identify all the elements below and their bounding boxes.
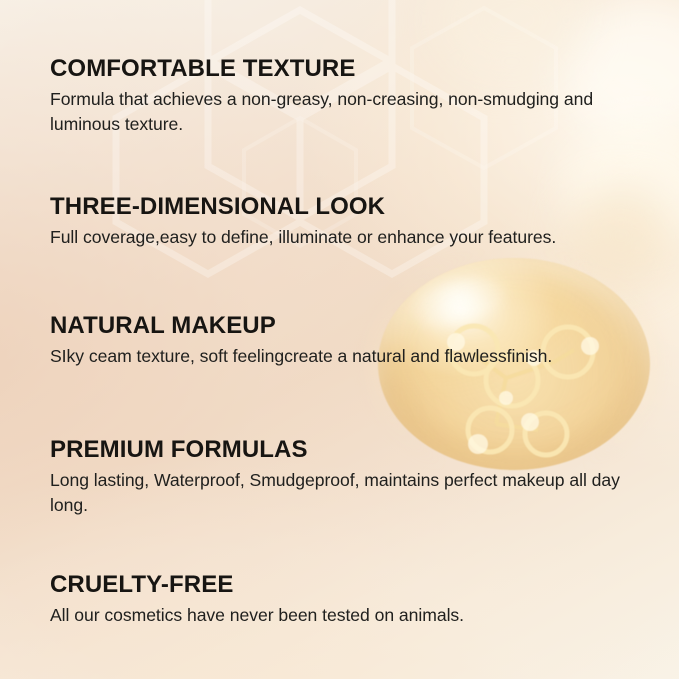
feature-title: COMFORTABLE TEXTURE bbox=[50, 56, 650, 83]
feature-item-cruelty-free: CRUELTY-FREE All our cosmetics have neve… bbox=[50, 572, 650, 628]
feature-description: All our cosmetics have never been tested… bbox=[50, 603, 646, 628]
feature-title: CRUELTY-FREE bbox=[50, 572, 650, 599]
feature-title: THREE-DIMENSIONAL LOOK bbox=[50, 194, 650, 221]
feature-item-comfortable-texture: COMFORTABLE TEXTURE Formula that achieve… bbox=[50, 56, 650, 137]
product-feature-graphic: COMFORTABLE TEXTURE Formula that achieve… bbox=[0, 0, 679, 679]
feature-list: COMFORTABLE TEXTURE Formula that achieve… bbox=[50, 0, 650, 679]
feature-description: SIky ceam texture, soft feelingcreate a … bbox=[50, 344, 646, 369]
feature-description: Long lasting, Waterproof, Smudgeproof, m… bbox=[50, 468, 646, 518]
feature-title: PREMIUM FORMULAS bbox=[50, 437, 650, 464]
feature-item-three-dimensional-look: THREE-DIMENSIONAL LOOK Full coverage,eas… bbox=[50, 194, 650, 250]
feature-item-premium-formulas: PREMIUM FORMULAS Long lasting, Waterproo… bbox=[50, 437, 650, 518]
feature-title: NATURAL MAKEUP bbox=[50, 313, 650, 340]
feature-description: Formula that achieves a non-greasy, non-… bbox=[50, 87, 646, 137]
feature-description: Full coverage,easy to define, illuminate… bbox=[50, 225, 646, 250]
feature-item-natural-makeup: NATURAL MAKEUP SIky ceam texture, soft f… bbox=[50, 313, 650, 369]
